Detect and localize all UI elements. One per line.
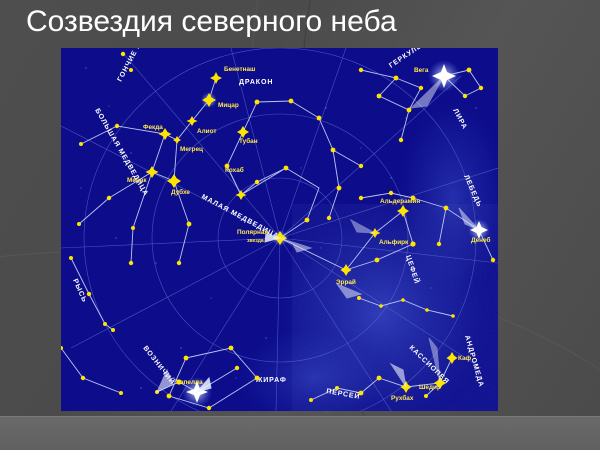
star-chart-image: ГОНЧИЕ ПСЫ БОЛЬШАЯ МЕДВЕДИЦА ДРАКОН ГЕРК…: [61, 48, 498, 411]
slide-bottom-band: [0, 416, 600, 450]
star-label: Вега: [414, 67, 429, 74]
star-label: Шедир: [419, 384, 441, 391]
star-label: Дубхе: [171, 188, 190, 196]
star-label: Денеб: [471, 236, 491, 244]
constellation-label: ДРАКОН: [239, 79, 273, 86]
slide: Созвездия северного неба: [0, 0, 600, 450]
star-label: Мицар: [218, 102, 239, 109]
star-label: Бенетнаш: [224, 66, 255, 73]
star-label: Фекда: [143, 124, 163, 131]
star-label: Полярная: [237, 229, 268, 236]
star-label: Алиот: [197, 128, 216, 135]
star-label: Каф: [458, 355, 472, 362]
star-label-sub: звезда: [247, 238, 264, 244]
page-title: Созвездия северного неба: [26, 2, 586, 42]
star-label: Альфирк: [379, 239, 409, 246]
constellation-label: ЖИРАФ: [255, 377, 287, 384]
star-label: Мегрец: [180, 146, 203, 153]
star-label: Тубан: [239, 137, 258, 145]
star-label: Мерак: [127, 177, 147, 184]
star-label: Рухбах: [391, 394, 414, 402]
